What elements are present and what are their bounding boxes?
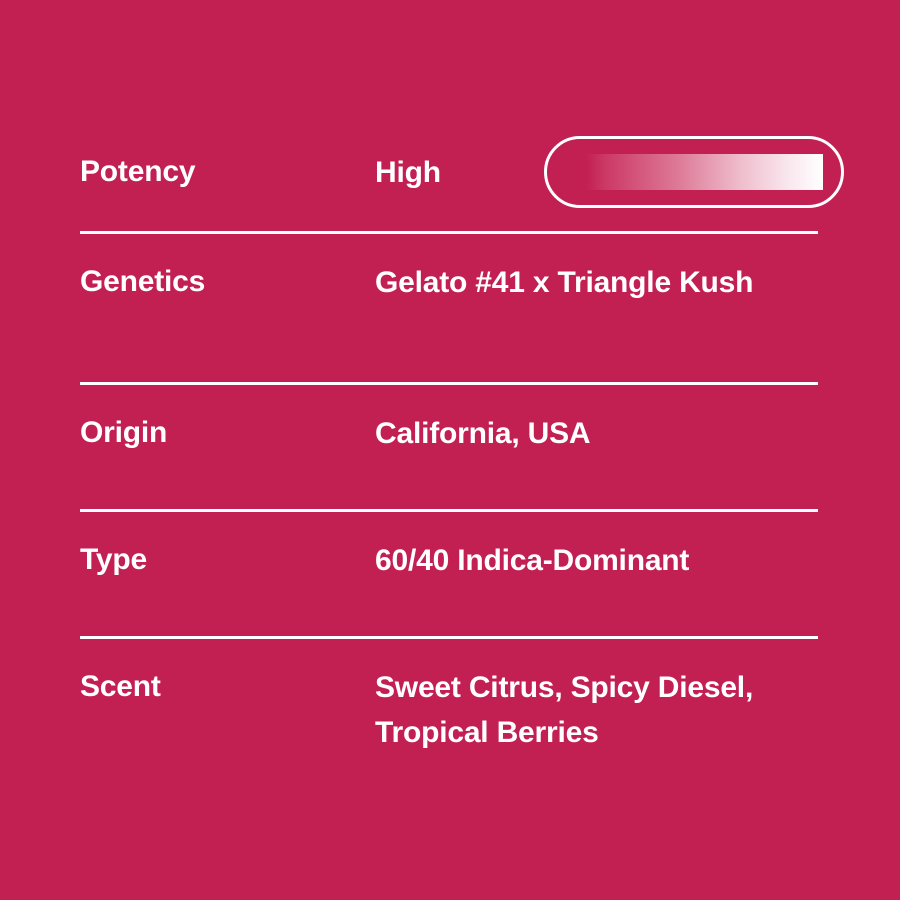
potency-meter-fill [565,154,823,190]
potency-meter [520,136,844,208]
spec-row-scent: Scent Sweet Citrus, Spicy Diesel, Tropic… [80,639,818,787]
spec-value-origin: California, USA [375,385,805,456]
spec-label-scent: Scent [80,639,375,709]
potency-meter-shell [544,136,844,208]
strain-spec-card: Potency High Genetics Gelato #41 x Trian… [0,0,900,900]
spec-label-genetics: Genetics [80,234,375,304]
spec-row-genetics: Genetics Gelato #41 x Triangle Kush [80,234,818,382]
spec-row-potency: Potency High [80,113,818,231]
potency-meter-track [565,154,823,190]
spec-value-type: 60/40 Indica-Dominant [375,512,818,583]
spec-value-genetics: Gelato #41 x Triangle Kush [375,234,805,305]
spec-row-type: Type 60/40 Indica-Dominant [80,512,818,636]
spec-label-origin: Origin [80,385,375,455]
spec-value-potency: High [375,150,520,195]
spec-table: Potency High Genetics Gelato #41 x Trian… [80,113,818,787]
spec-value-scent: Sweet Citrus, Spicy Diesel, Tropical Ber… [375,639,805,755]
spec-row-origin: Origin California, USA [80,385,818,509]
spec-label-potency: Potency [80,150,375,194]
spec-label-type: Type [80,512,375,582]
